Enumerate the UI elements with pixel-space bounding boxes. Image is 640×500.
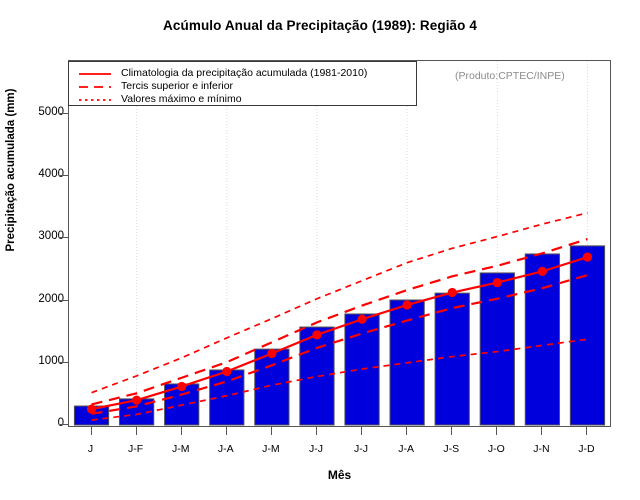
x-tick-mark xyxy=(271,427,272,435)
x-tick-label: J-A xyxy=(218,443,234,455)
x-tick-mark xyxy=(361,427,362,435)
x-tick-label: J-J xyxy=(354,443,368,455)
x-tick-label: J-S xyxy=(443,443,459,455)
legend-key-solid-icon xyxy=(75,67,115,79)
x-tick-mark xyxy=(181,427,182,435)
x-axis-title: Mês xyxy=(68,468,611,482)
x-tick-label: J-D xyxy=(578,443,594,455)
y-axis-title: Precipitação acumulada (mm) xyxy=(5,0,17,340)
x-tick-mark xyxy=(406,427,407,435)
x-tick-mark xyxy=(496,427,497,435)
legend-label: Climatologia da precipitação acumulada (… xyxy=(121,67,367,79)
x-tick-mark xyxy=(91,427,92,435)
x-tick-mark xyxy=(586,427,587,435)
legend-label: Valores máximo e mínimo xyxy=(121,93,242,105)
legend-key-dotted-icon xyxy=(75,93,115,105)
product-credit: (Produto:CPTEC/INPE) xyxy=(455,70,565,82)
legend-item: Tercis superior e inferior xyxy=(75,79,410,92)
legend-item: Climatologia da precipitação acumulada (… xyxy=(75,66,410,79)
legend-key-dashed-icon xyxy=(75,80,115,92)
x-tick-mark xyxy=(316,427,317,435)
x-tick-label: J-A xyxy=(398,443,414,455)
x-tick-label: J-J xyxy=(309,443,323,455)
chart-legend: Climatologia da precipitação acumulada (… xyxy=(68,61,417,106)
x-tick-label: J-N xyxy=(533,443,549,455)
legend-label: Tercis superior e inferior xyxy=(121,80,233,92)
x-tick-mark xyxy=(541,427,542,435)
x-tick-label: J-O xyxy=(488,443,505,455)
x-tick-mark xyxy=(226,427,227,435)
x-tick-label: J xyxy=(88,443,93,455)
x-tick-label: J-F xyxy=(128,443,143,455)
x-tick-label: J-M xyxy=(262,443,280,455)
x-tick-mark xyxy=(451,427,452,435)
x-tick-mark xyxy=(136,427,137,435)
x-tick-label: J-M xyxy=(172,443,190,455)
legend-item: Valores máximo e mínimo xyxy=(75,92,410,105)
precipitation-chart: Acúmulo Anual da Precipitação (1989): Re… xyxy=(0,0,640,500)
